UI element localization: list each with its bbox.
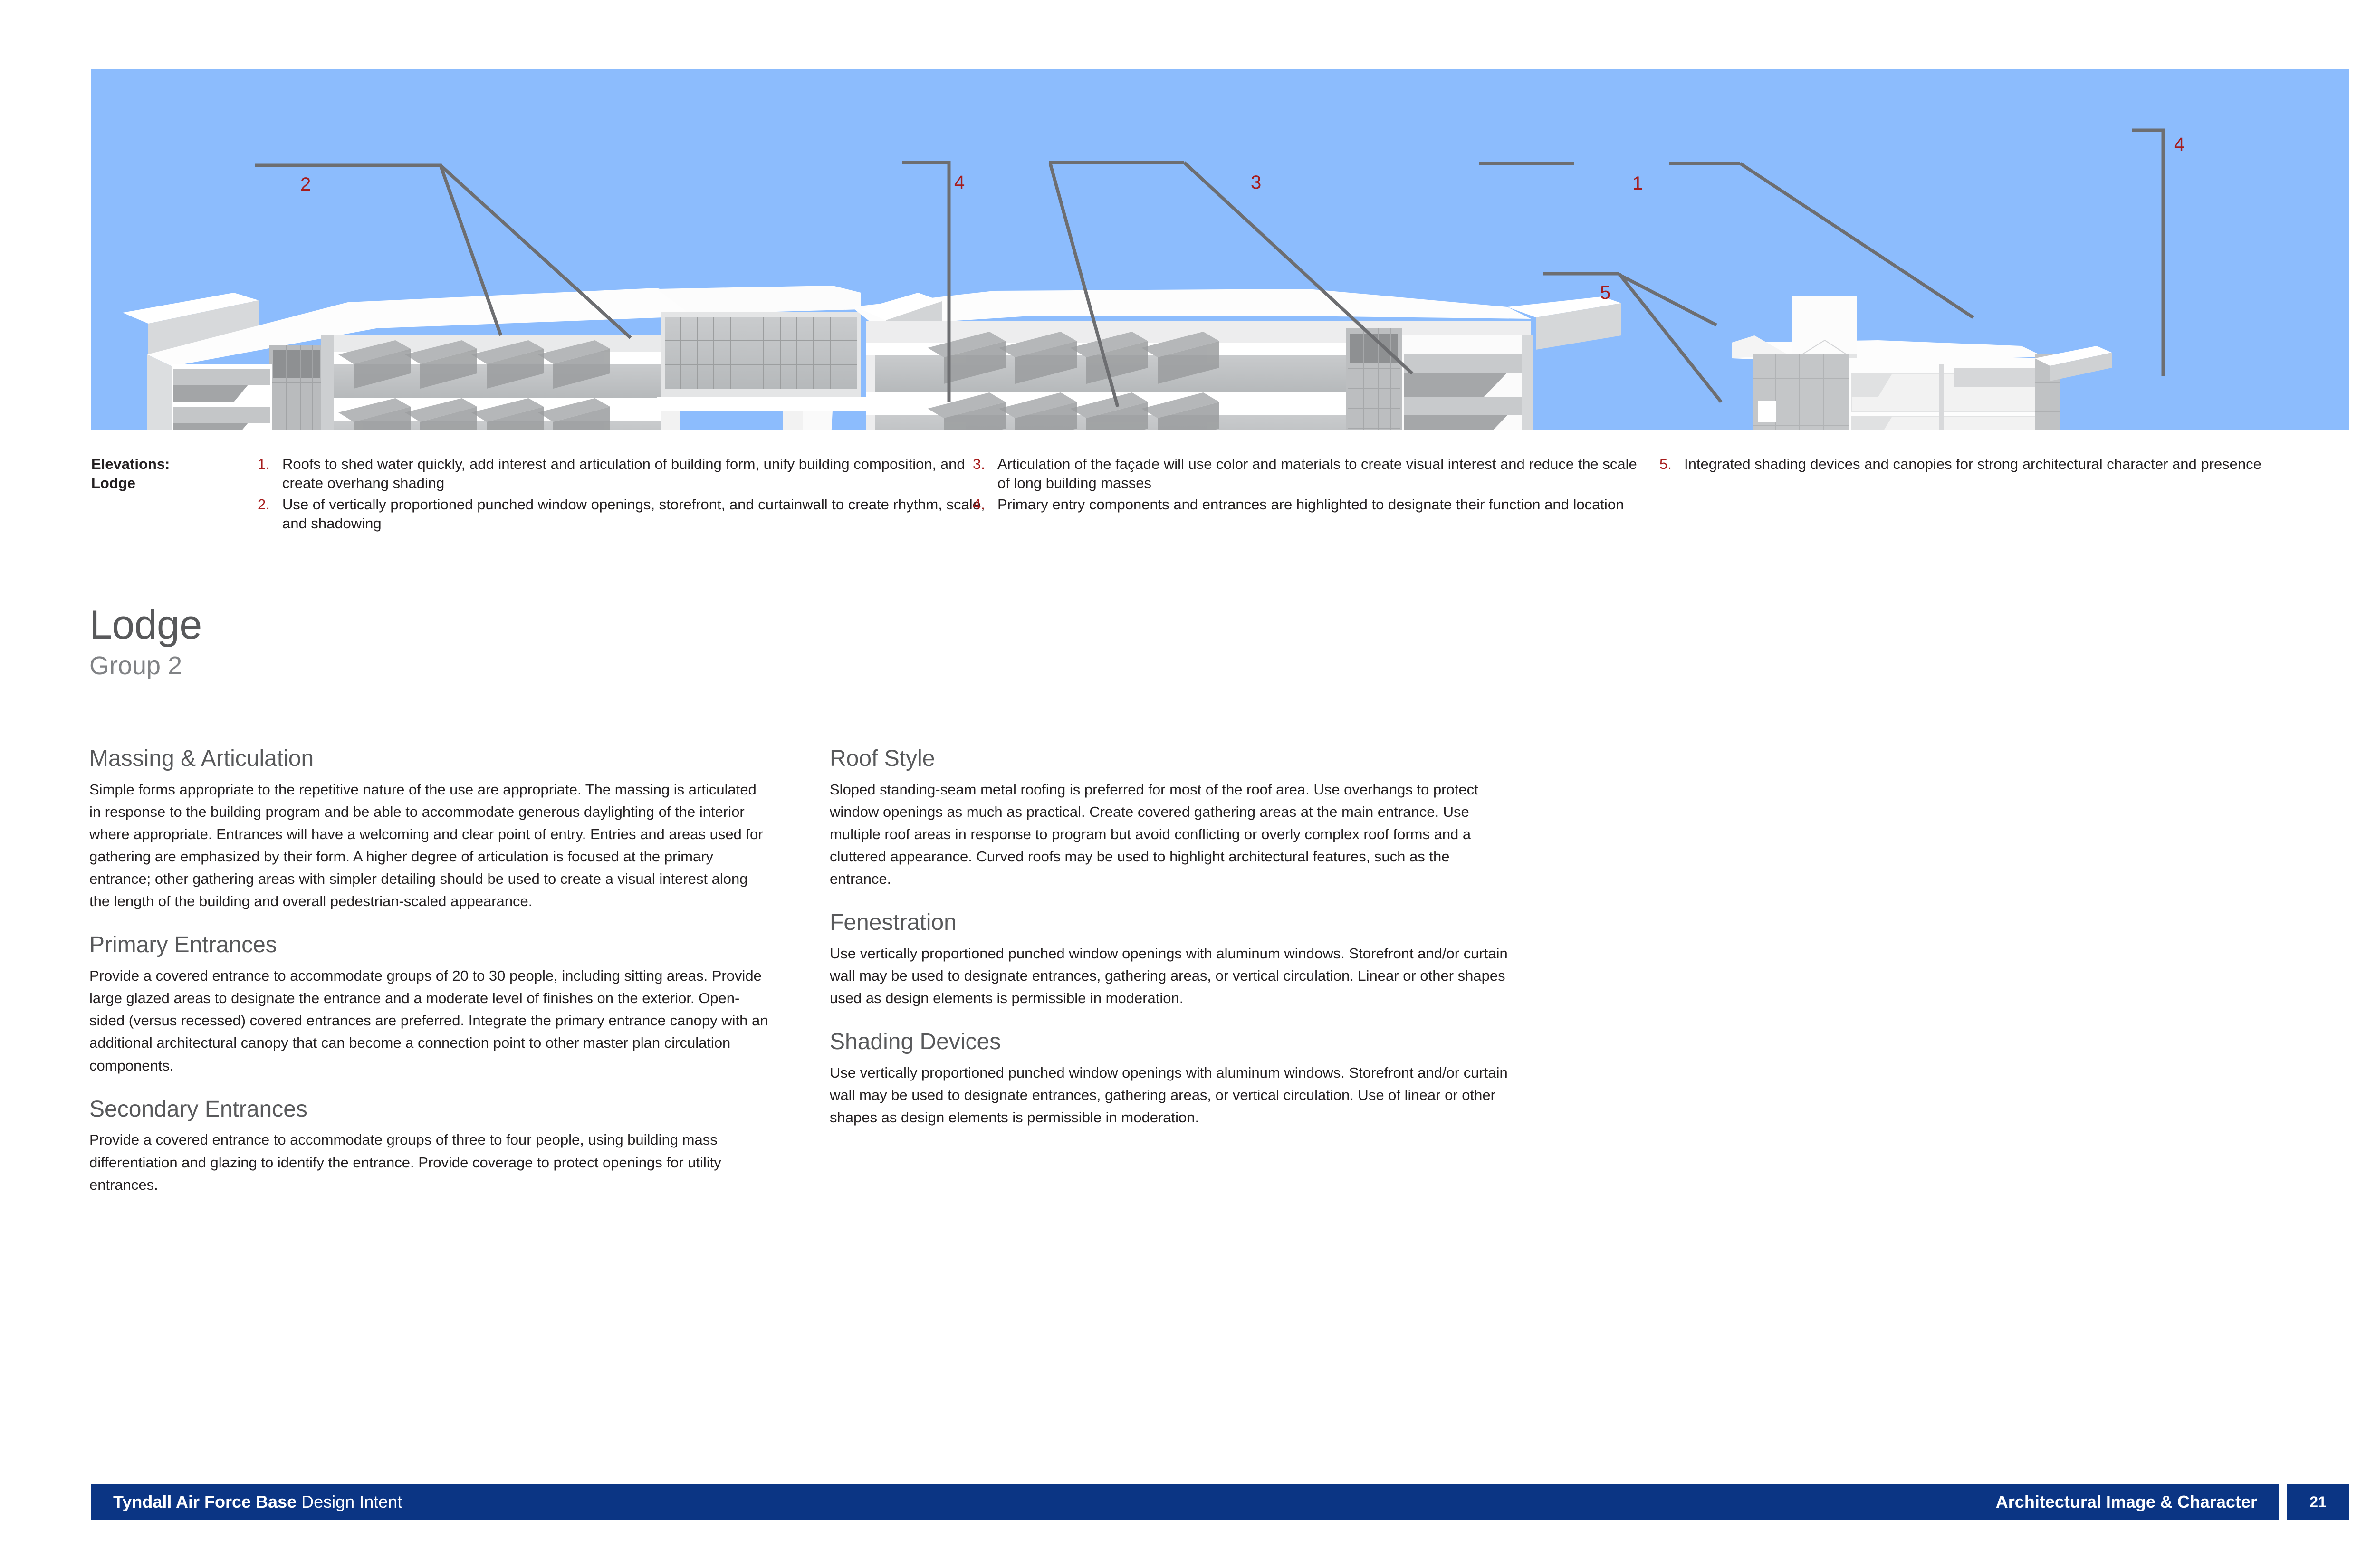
footer-brand: Tyndall Air Force Base Design Intent — [113, 1493, 402, 1511]
bridge-link — [657, 286, 866, 430]
caption-label-line1: Elevations: — [91, 455, 248, 474]
page-title-block: Lodge Group 2 — [89, 604, 897, 679]
footer-brand-bold: Tyndall Air Force Base — [113, 1492, 297, 1511]
section-primary-entrances: Primary Entrances Provide a covered entr… — [89, 932, 769, 1076]
section-body: Provide a covered entrance to accommodat… — [89, 1128, 769, 1195]
section-heading: Shading Devices — [830, 1029, 1509, 1055]
body-column-right: Roof Style Sloped standing-seam metal ro… — [830, 746, 1509, 1128]
footer-page-number: 21 — [2287, 1484, 2349, 1520]
caption-item-text: Use of vertically proportioned punched w… — [282, 495, 999, 534]
section-body: Provide a covered entrance to accommodat… — [89, 965, 769, 1077]
caption-item: 3. Articulation of the façade will use c… — [973, 455, 1652, 493]
caption-item-number: 5. — [1659, 455, 1684, 474]
elevation-caption-band: Elevations: Lodge 1. Roofs to shed water… — [91, 454, 2353, 554]
caption-item-number: 1. — [258, 455, 282, 474]
caption-item: 4. Primary entry components and entrance… — [973, 495, 1652, 514]
lodge-elevation-figure: 2 4 3 1 5 4 — [91, 69, 2349, 430]
callout-number-2: 2 — [300, 175, 311, 194]
caption-label: Elevations: Lodge — [91, 455, 248, 492]
callout-number-1: 1 — [1632, 174, 1643, 193]
section-massing-articulation: Massing & Articulation Simple forms appr… — [89, 746, 769, 912]
section-heading: Roof Style — [830, 746, 1509, 772]
caption-item-text: Roofs to shed water quickly, add interes… — [282, 455, 999, 493]
section-heading: Fenestration — [830, 910, 1509, 936]
caption-item-text: Integrated shading devices and canopies … — [1684, 455, 2301, 474]
caption-item-number: 2. — [258, 495, 282, 514]
caption-item: 1. Roofs to shed water quickly, add inte… — [258, 455, 999, 493]
footer-bar: Tyndall Air Force Base Design Intent Arc… — [91, 1484, 2279, 1520]
section-body: Simple forms appropriate to the repetiti… — [89, 778, 769, 913]
section-body: Sloped standing-seam metal roofing is pr… — [830, 778, 1509, 890]
footer-brand-light: Design Intent — [297, 1492, 402, 1511]
page-footer: Tyndall Air Force Base Design Intent Arc… — [91, 1484, 2349, 1520]
callout-number-4-right: 4 — [2174, 135, 2184, 154]
callout-number-5: 5 — [1600, 283, 1610, 302]
elevation-drawing — [91, 69, 2349, 430]
caption-column-1: 1. Roofs to shed water quickly, add inte… — [258, 455, 999, 535]
left-wing-massing — [123, 288, 690, 430]
section-roof-style: Roof Style Sloped standing-seam metal ro… — [830, 746, 1509, 890]
page-title: Lodge — [89, 604, 897, 646]
page-subtitle: Group 2 — [89, 652, 897, 679]
callout-number-4-left: 4 — [954, 173, 965, 192]
caption-item: 5. Integrated shading devices and canopi… — [1659, 455, 2301, 474]
section-body: Use vertically proportioned punched wind… — [830, 942, 1509, 1009]
caption-column-2: 3. Articulation of the façade will use c… — [973, 455, 1652, 516]
caption-item-text: Primary entry components and entrances a… — [997, 495, 1652, 514]
footer-section-title: Architectural Image & Character — [1996, 1493, 2257, 1511]
caption-item-text: Articulation of the façade will use colo… — [997, 455, 1652, 493]
section-heading: Primary Entrances — [89, 932, 769, 958]
callout-number-3: 3 — [1251, 173, 1261, 192]
caption-label-line2: Lodge — [91, 474, 248, 493]
caption-item: 2. Use of vertically proportioned punche… — [258, 495, 999, 534]
section-body: Use vertically proportioned punched wind… — [830, 1061, 1509, 1128]
section-secondary-entrances: Secondary Entrances Provide a covered en… — [89, 1097, 769, 1196]
caption-item-number: 4. — [973, 495, 997, 514]
section-fenestration: Fenestration Use vertically proportioned… — [830, 910, 1509, 1009]
center-right-wing — [852, 289, 1621, 430]
body-column-left: Massing & Articulation Simple forms appr… — [89, 746, 769, 1196]
section-shading-devices: Shading Devices Use vertically proportio… — [830, 1029, 1509, 1128]
caption-column-3: 5. Integrated shading devices and canopi… — [1659, 455, 2301, 476]
caption-item-number: 3. — [973, 455, 997, 474]
section-heading: Secondary Entrances — [89, 1097, 769, 1122]
section-heading: Massing & Articulation — [89, 746, 769, 772]
